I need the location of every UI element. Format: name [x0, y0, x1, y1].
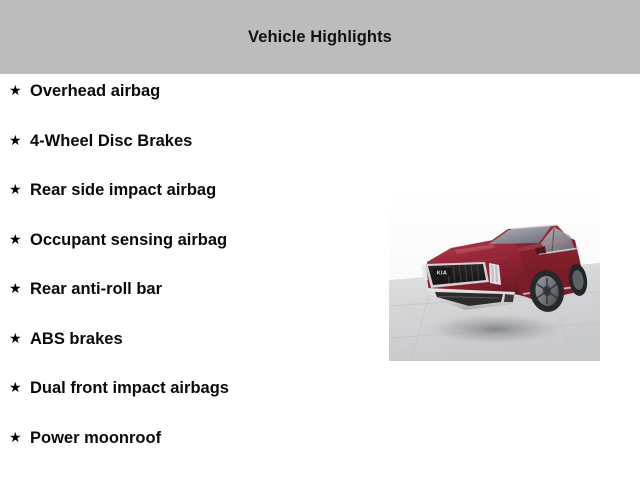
list-item: ★ Rear side impact airbag — [0, 182, 380, 232]
star-bullet-icon: ★ — [9, 83, 30, 97]
kia-badge-text: KIA — [437, 271, 448, 277]
list-item: ★ Overhead airbag — [0, 74, 380, 133]
list-item: ★ ABS brakes — [0, 331, 380, 381]
vehicle-shadow — [423, 313, 567, 345]
vehicle-photo-illustration: KIA — [389, 188, 600, 361]
highlight-label: Power moonroof — [30, 430, 161, 447]
highlight-label: Dual front impact airbags — [30, 380, 229, 397]
highlight-label: ABS brakes — [30, 331, 123, 348]
star-bullet-icon: ★ — [9, 232, 30, 246]
star-bullet-icon: ★ — [9, 331, 30, 345]
highlight-label: Rear anti-roll bar — [30, 281, 162, 298]
list-item: ★ 4-Wheel Disc Brakes — [0, 133, 380, 183]
highlight-label: Overhead airbag — [30, 83, 160, 100]
vehicle-highlights-header: Vehicle Highlights — [0, 0, 640, 74]
vehicle-photo: KIA — [389, 188, 600, 361]
highlight-label: Rear side impact airbag — [30, 182, 216, 199]
list-item: ★ Rear anti-roll bar — [0, 281, 380, 331]
list-item: ★ Dual front impact airbags — [0, 380, 380, 430]
highlight-label: 4-Wheel Disc Brakes — [30, 133, 192, 150]
highlight-label: Occupant sensing airbag — [30, 232, 227, 249]
star-bullet-icon: ★ — [9, 281, 30, 295]
star-bullet-icon: ★ — [9, 380, 30, 394]
list-item: ★ Power moonroof — [0, 430, 380, 480]
star-bullet-icon: ★ — [9, 430, 30, 444]
star-bullet-icon: ★ — [9, 182, 30, 196]
page-title: Vehicle Highlights — [248, 28, 392, 47]
star-bullet-icon: ★ — [9, 133, 30, 147]
list-item: ★ Occupant sensing airbag — [0, 232, 380, 282]
vehicle-highlights-list: ★ Overhead airbag ★ 4-Wheel Disc Brakes … — [0, 74, 380, 479]
